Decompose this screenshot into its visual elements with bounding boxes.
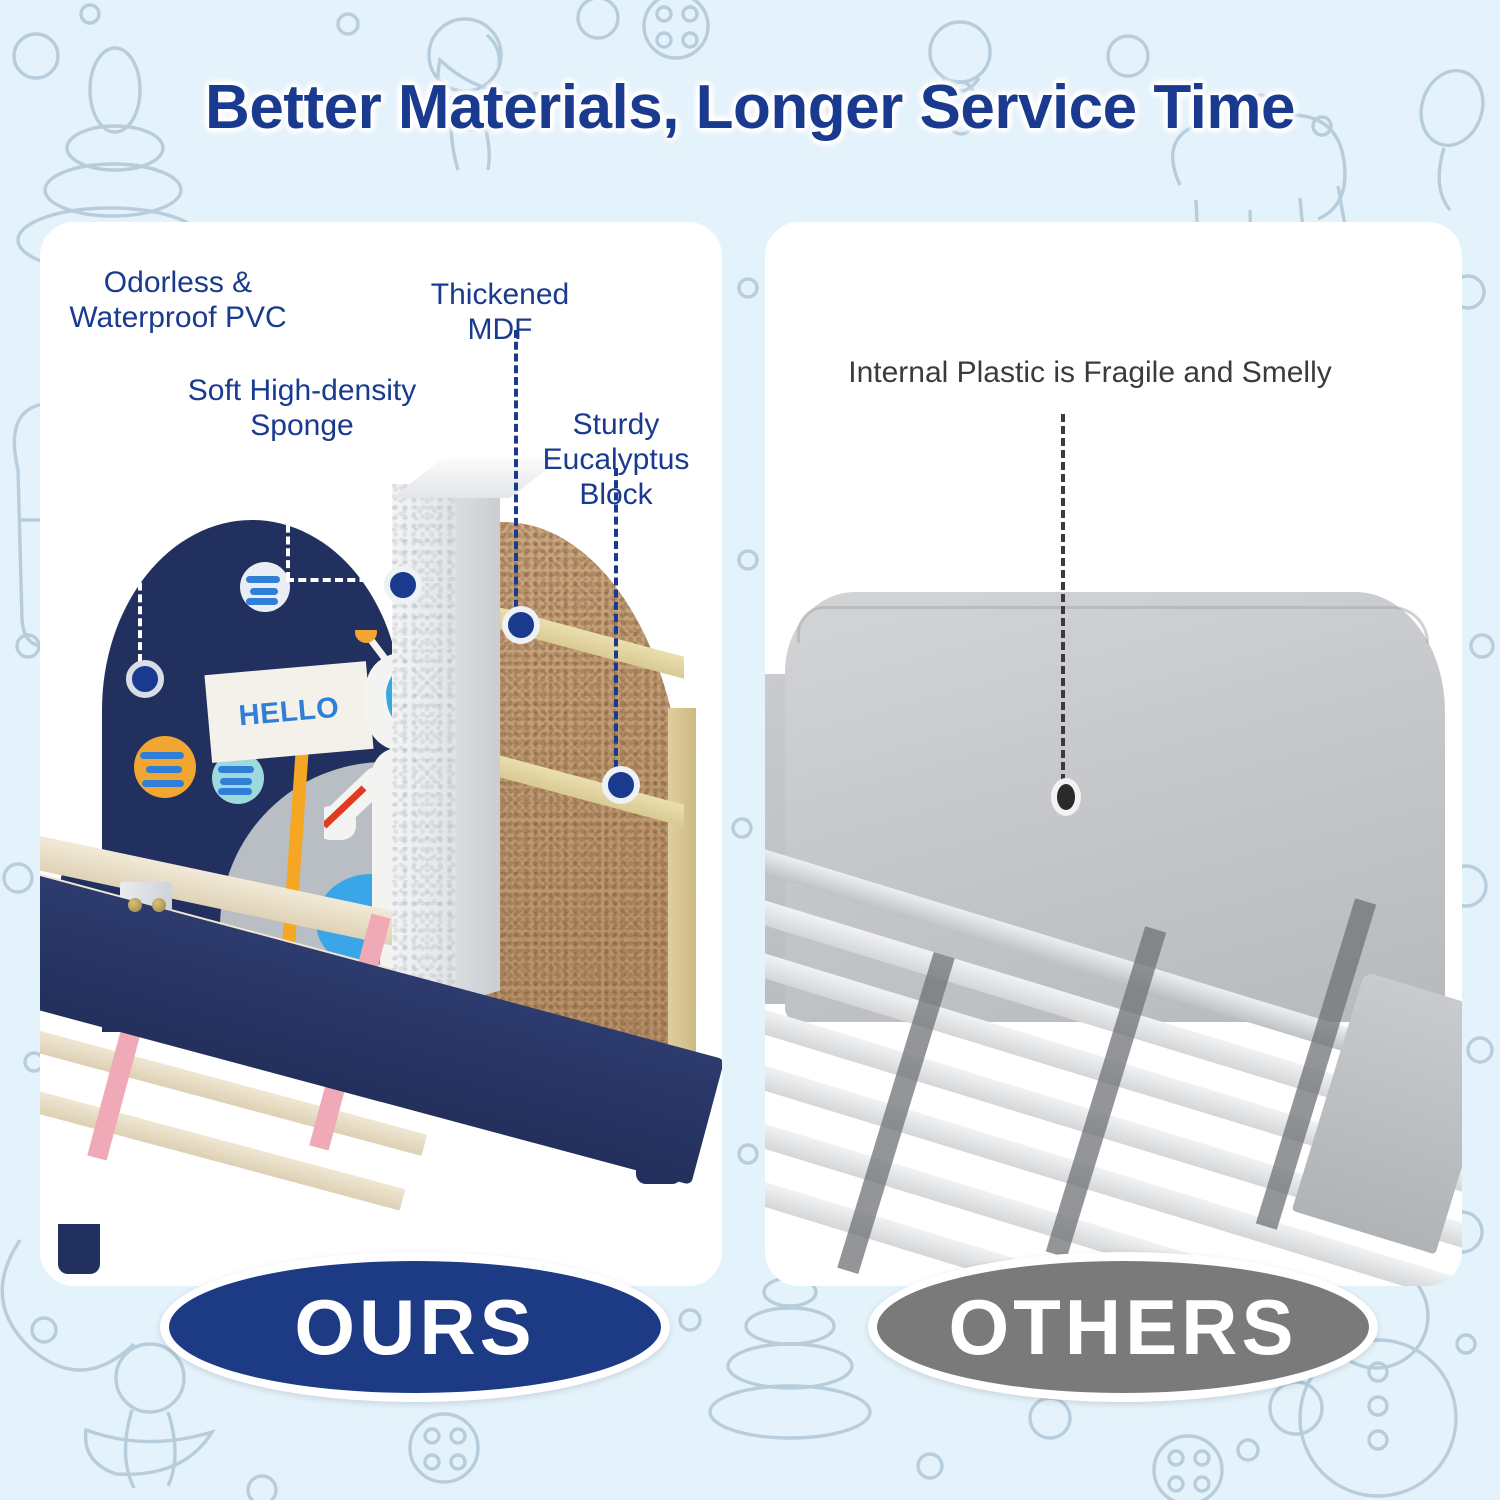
screw-icon <box>128 898 142 912</box>
callout-label-pvc: Odorless & Waterproof PVC <box>28 266 328 336</box>
bed-leg <box>58 1224 100 1274</box>
eucalyptus-block-edge <box>668 708 696 1090</box>
leader-line-plastic <box>1061 414 1065 782</box>
leader-line-pvc <box>138 332 142 662</box>
callout-dot-euca <box>602 766 640 804</box>
callout-label-mdf: Thickened MDF <box>380 278 620 348</box>
badge-others-label: OTHERS <box>948 1282 1297 1373</box>
planet-graphic <box>240 562 290 612</box>
page-title-container: Better Materials, Longer Service Time <box>0 72 1500 143</box>
leader-line-euca <box>614 468 618 768</box>
callout-dot-mdf <box>502 606 540 644</box>
callout-dot-pvc <box>126 660 164 698</box>
badge-ours-label: OURS <box>294 1282 535 1373</box>
planet-graphic <box>134 736 196 798</box>
leader-line-sponge-h <box>286 578 392 582</box>
callout-dot-sponge <box>384 566 422 604</box>
badge-others: OTHERS <box>868 1252 1378 1402</box>
badge-ours: OURS <box>160 1252 670 1402</box>
callout-label-sponge: Soft High-density Sponge <box>150 374 454 444</box>
callout-label-plastic: Internal Plastic is Fragile and Smelly <box>800 356 1380 391</box>
sponge-layer <box>392 484 456 1024</box>
callout-dot-plastic <box>1051 778 1081 816</box>
sponge-layer-side <box>456 471 500 1004</box>
page-title: Better Materials, Longer Service Time <box>205 72 1295 143</box>
screw-icon <box>152 898 166 912</box>
callout-label-euca: Sturdy Eucalyptus Block <box>500 408 732 512</box>
